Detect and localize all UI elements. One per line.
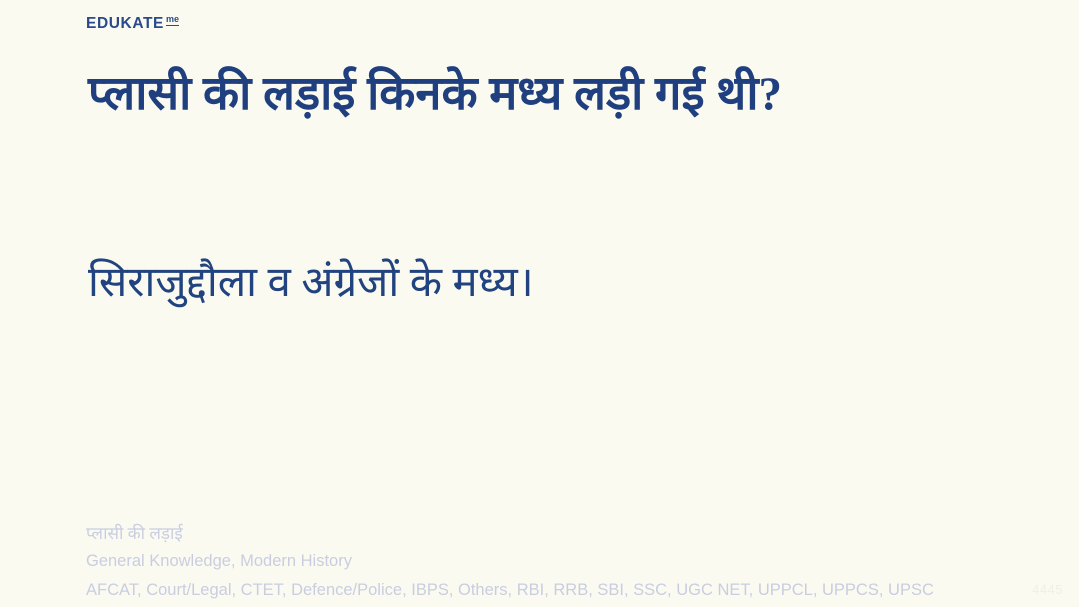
brand-name: EDUKATE <box>86 16 164 32</box>
slide-canvas: EDUKATEme प्लासी की लड़ाई किनके मध्य लड़… <box>0 0 1079 607</box>
footer-meta: प्लासी की लड़ाई General Knowledge, Moder… <box>86 525 986 601</box>
slide-number: 4445 <box>1032 582 1063 597</box>
footer-subject: General Knowledge, Modern History <box>86 553 986 570</box>
footer-topic: प्लासी की लड़ाई <box>86 525 986 542</box>
brand-logo[interactable]: EDUKATEme <box>86 16 179 32</box>
answer-text: सिराजुद्दौला व अंग्रेजों के मध्य। <box>88 255 988 312</box>
footer-exams: AFCAT, Court/Legal, CTET, Defence/Police… <box>86 582 986 599</box>
brand-suffix: me <box>166 15 179 26</box>
question-text: प्लासी की लड़ाई किनके मध्य लड़ी गई थी? <box>88 62 988 127</box>
